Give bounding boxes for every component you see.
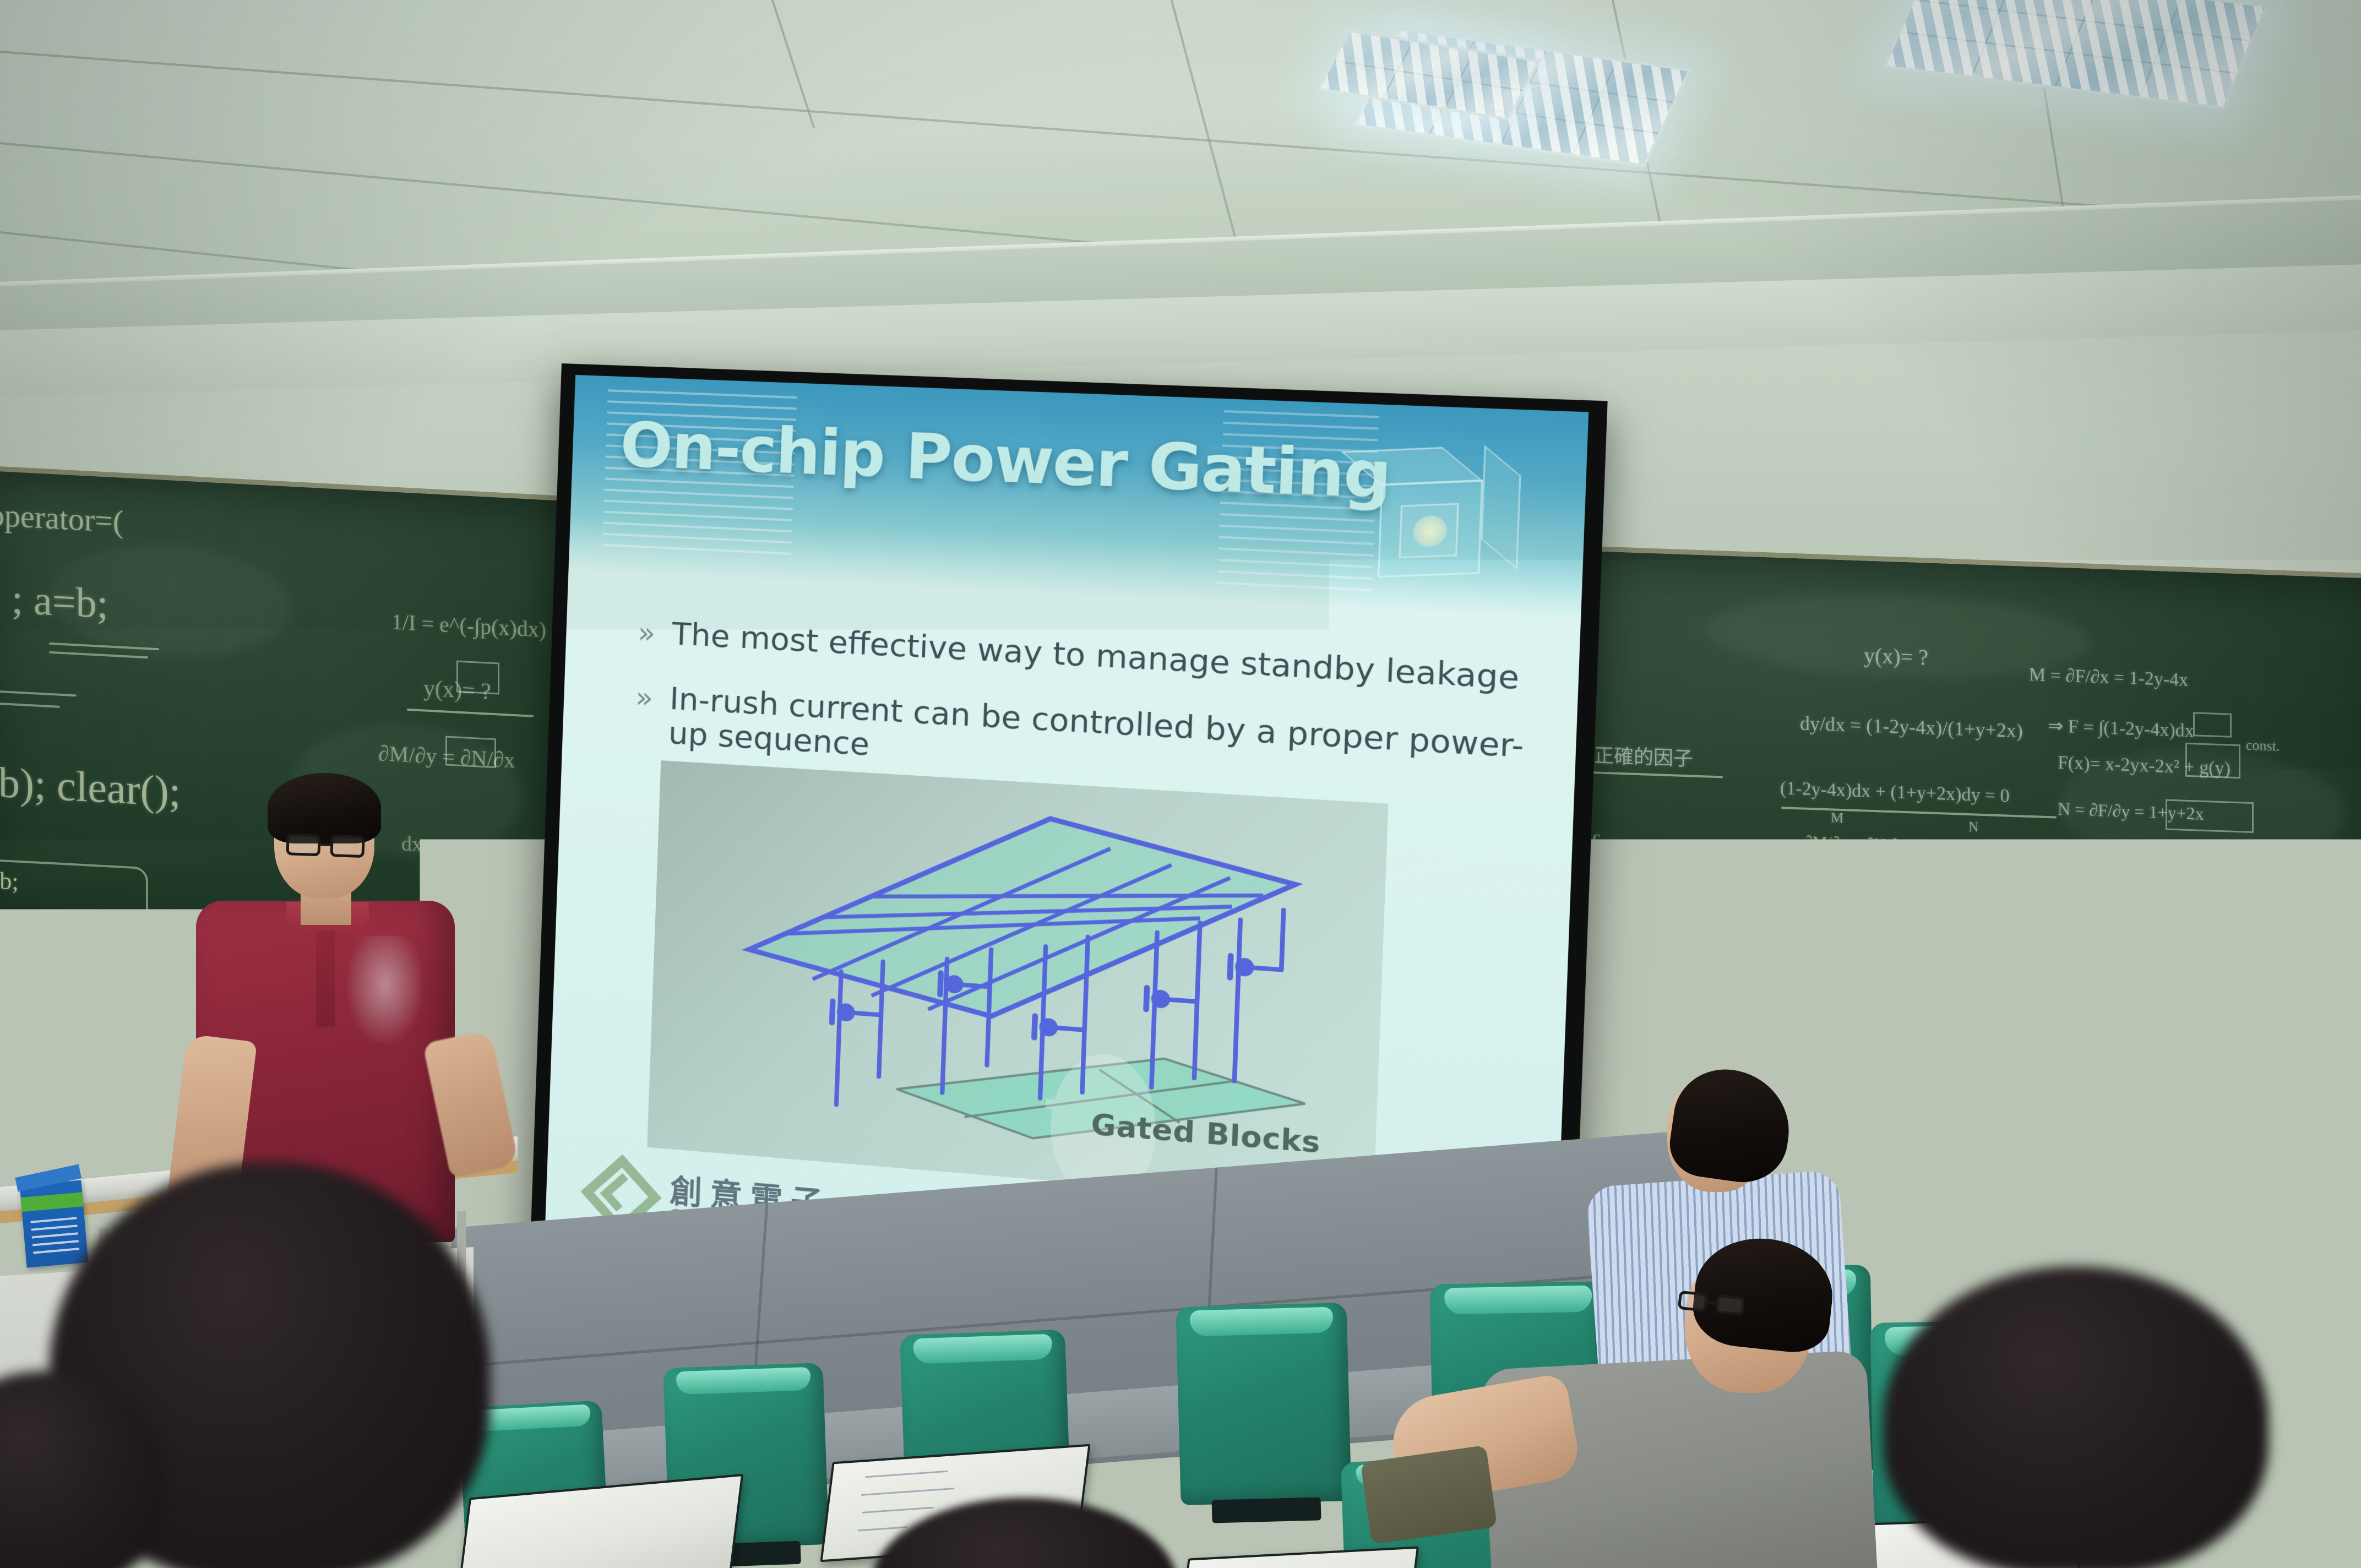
lecture-hall-photo: operator=( = ; a=b; =b); clear(); a=b; a… xyxy=(0,0,2361,1568)
seat-writing-tablet[interactable] xyxy=(1180,1547,1419,1568)
chevron-bullet-icon: » xyxy=(637,618,656,648)
chalk-r-1: M = ∂F/∂x = 1-2y-4x xyxy=(2029,665,2188,691)
chalk-r-13: const. xyxy=(2246,737,2280,755)
chevron-bullet-icon: » xyxy=(635,683,654,713)
chalk-r-15: N xyxy=(1968,819,1979,836)
chalk-r-5: (1-2y-4x)dx + (1+y+2x)dy = 0 xyxy=(1780,778,2010,807)
chalk-r-14: M xyxy=(1831,809,1843,826)
chalk-text-2: =b); clear(); xyxy=(0,756,181,817)
presenter-hair xyxy=(268,773,381,843)
eraser-red xyxy=(0,935,36,955)
bullet-text-1: The most effective way to manage standby… xyxy=(671,617,1520,697)
chalk-r-12: 正確的因子 xyxy=(1594,739,1693,771)
bullet-item-1: » The most effective way to manage stand… xyxy=(637,615,1536,697)
presenter-glasses-icon xyxy=(286,833,375,862)
cube-icon xyxy=(1371,439,1528,585)
chalk-r-3: ⇒ F = ∫(1-2y-4x)dx xyxy=(2048,715,2194,742)
chalkboard-right: y(x)= ? M = ∂F/∂x = 1-2y-4x dy/dx = (1-2… xyxy=(1558,545,2361,965)
presenter-shirt-print xyxy=(347,936,423,1044)
presenter-placket xyxy=(316,930,335,1027)
drink-carton xyxy=(20,1180,89,1267)
eraser-right xyxy=(2235,928,2296,947)
audience-hair xyxy=(1666,1063,1797,1188)
chalk-text-0: operator=( xyxy=(0,496,123,540)
lecture-seat[interactable] xyxy=(1176,1303,1351,1505)
audience-shorts xyxy=(1361,1445,1498,1545)
chalk-r-9: ∂M/∂y = ∂N/∂x xyxy=(1804,833,1907,856)
chalk-r-2: dy/dx = (1-2y-4x)/(1+y+2x) xyxy=(1800,711,2023,742)
power-grid-mesh xyxy=(747,801,1297,1038)
power-gating-diagram: Gated Blocks xyxy=(647,760,1388,1207)
audience-head-foreground-right xyxy=(1883,1266,2268,1568)
chalk-r-8: F(x,y) = -2xy+x-y-2x²+½y² = C xyxy=(2052,884,2262,910)
chalk-ode-a: 1/I = e^(-∫p(x)dx) xyxy=(391,608,546,643)
